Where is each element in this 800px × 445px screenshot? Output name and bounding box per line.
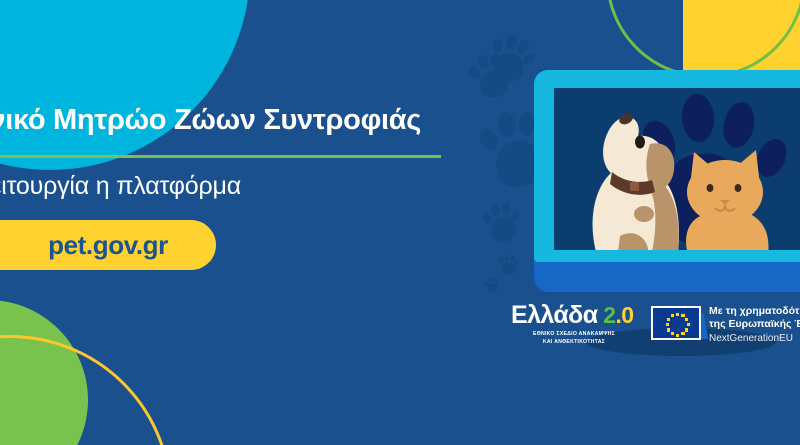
paw-toe bbox=[505, 33, 519, 50]
greece-subtitle-line-1: ΕΘΝΙΚΟ ΣΧΕΔΙΟ ΑΝΑΚΑΜΨΗΣ bbox=[511, 331, 637, 339]
eu-star-icon bbox=[667, 328, 670, 331]
greece-subtitle: ΕΘΝΙΚΟ ΣΧΕΔΙΟ ΑΝΑΚΑΜΨΗΣ ΚΑΙ ΑΝΘΕΚΤΙΚΟΤΗΤ… bbox=[511, 331, 637, 347]
paw-print-icon bbox=[480, 199, 523, 245]
eu-funding-statement: Με τη χρηματοδότηση της Ευρωπαϊκής Ένωση… bbox=[709, 305, 800, 331]
eu-star-icon bbox=[685, 318, 688, 321]
eu-star-icon bbox=[671, 332, 674, 335]
paw-toe bbox=[489, 202, 501, 217]
greece-wordmark-text: Ελλάδα bbox=[511, 301, 597, 329]
greece-2-0-logo: Ελλάδα 2.0 ΕΘΝΙΚΟ ΣΧΕΔΙΟ ΑΝΑΚΑΜΨΗΣ ΚΑΙ Α… bbox=[511, 303, 643, 347]
eu-star-icon bbox=[685, 328, 688, 331]
greece-wordmark: Ελλάδα 2.0 bbox=[511, 303, 643, 328]
paw-toe bbox=[490, 53, 500, 68]
monitor-screen bbox=[554, 88, 800, 250]
eu-programme-name: NextGenerationEU bbox=[709, 333, 800, 344]
paw-print-icon bbox=[484, 276, 500, 293]
paw-toe bbox=[505, 254, 510, 261]
green-divider bbox=[0, 155, 441, 158]
greece-subtitle-line-2: ΚΑΙ ΑΝΘΕΚΤΙΚΟΤΗΤΑΣ bbox=[511, 339, 637, 347]
paw-toe bbox=[510, 210, 520, 223]
eu-flag-icon bbox=[651, 306, 701, 340]
greece-version: 2.0 bbox=[597, 302, 633, 328]
yellow-ring-decoration bbox=[0, 335, 172, 445]
eu-funding-line-2: της Ευρωπαϊκής Ένωσης bbox=[709, 318, 800, 331]
cat-illustration bbox=[672, 142, 788, 250]
paw-toe bbox=[495, 280, 499, 285]
subtitle: λειτουργία η πλατφόρμα bbox=[0, 172, 241, 201]
paw-toe bbox=[521, 52, 536, 67]
paw-toe bbox=[502, 203, 510, 215]
eu-star-icon bbox=[687, 323, 690, 326]
eu-funding-line-1: Με τη χρηματοδότηση bbox=[709, 305, 800, 318]
paw-toe bbox=[513, 260, 519, 267]
eu-funding-text: Με τη χρηματοδότηση της Ευρωπαϊκής Ένωση… bbox=[709, 305, 800, 344]
eu-star-icon bbox=[671, 314, 674, 317]
paw-toe bbox=[496, 111, 518, 139]
page-title: θνικό Μητρώο Ζώων Συντροφιάς bbox=[0, 104, 470, 137]
monitor-illustration bbox=[534, 70, 800, 300]
eu-star-icon bbox=[681, 332, 684, 335]
headline-block: θνικό Μητρώο Ζώων Συντροφιάς bbox=[0, 104, 470, 137]
paw-toe bbox=[501, 61, 511, 75]
eu-star-icon bbox=[676, 313, 679, 316]
cyan-circle-decoration bbox=[0, 0, 250, 170]
funding-logos: Ελλάδα 2.0 ΕΘΝΙΚΟ ΣΧΕΔΙΟ ΑΝΑΚΑΜΨΗΣ ΚΑΙ Α… bbox=[511, 303, 800, 361]
eu-star-icon bbox=[667, 318, 670, 321]
paw-toe bbox=[476, 126, 501, 154]
eu-star-icon bbox=[676, 334, 679, 337]
paw-toe bbox=[476, 54, 490, 71]
paw-print-icon bbox=[498, 253, 519, 276]
eu-star-icon bbox=[666, 323, 669, 326]
pet-gov-gr-button[interactable]: pet.gov.gr bbox=[0, 220, 216, 270]
pet-registry-banner: θνικό Μητρώο Ζώων Συντροφιάς λειτουργία … bbox=[0, 0, 800, 445]
